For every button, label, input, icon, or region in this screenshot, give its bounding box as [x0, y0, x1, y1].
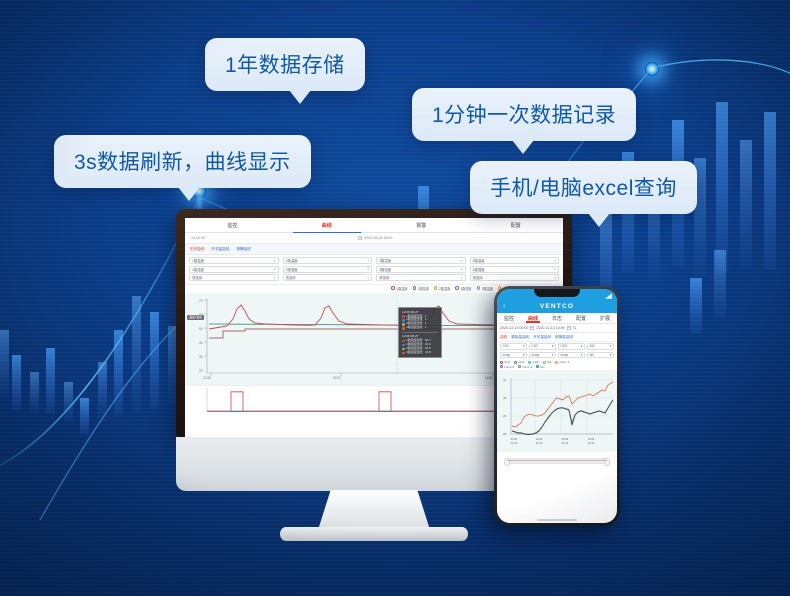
- legend-label: 1路温度: [396, 286, 407, 291]
- monitor-select-x4[interactable]: 请选择▾: [470, 274, 560, 281]
- phone-select-label: comp: [503, 353, 511, 357]
- phone-chip-curve[interactable]: 曲线: [500, 335, 507, 340]
- tooltip-row: 4路温度监测：1: [402, 326, 438, 330]
- phone-app-title: VENTCO: [497, 303, 617, 310]
- svg-text:50: 50: [199, 327, 203, 331]
- tooltip-label: 4路温度监测：1: [406, 326, 427, 330]
- search-icon[interactable]: [573, 326, 577, 330]
- chevron-down-icon: ▾: [367, 276, 369, 280]
- chevron-down-icon: ▾: [461, 259, 463, 263]
- monitor-select-t3[interactable]: 3路温度▾: [376, 257, 466, 264]
- legend-swatch: [528, 361, 531, 364]
- legend-label: fan: [540, 365, 544, 369]
- legend-label: CH3: [533, 360, 539, 364]
- chevron-down-icon: ▾: [552, 344, 554, 348]
- legend-swatch: [500, 365, 503, 368]
- tooltip-swatch: [402, 344, 405, 347]
- slider-handle-right[interactable]: [604, 458, 610, 466]
- legend-label: 3路温度: [482, 286, 493, 291]
- bubble-text: 3s数据刷新，曲线显示: [74, 151, 291, 174]
- legend-item[interactable]: comp 2: [500, 365, 514, 369]
- svg-text:22:57: 22:57: [333, 376, 341, 380]
- bubble-one-minute-record: 1分钟一次数据记录: [412, 88, 636, 141]
- bubble-text: 1分钟一次数据记录: [432, 104, 616, 127]
- legend-item[interactable]: 1路温度: [391, 286, 407, 291]
- monitor-select-h2[interactable]: 2路湿度▾: [283, 266, 373, 273]
- legend-label: 2路湿度: [460, 286, 471, 291]
- monitor-tab-monitor[interactable]: 监控: [185, 218, 280, 232]
- background-bars-left: [0, 296, 177, 434]
- phone-select-row: CH1▾ CH2▾ CH3▾ AI4▾: [497, 342, 617, 351]
- bubble-tail: [512, 140, 534, 154]
- monitor-select-label: 请选择: [286, 275, 296, 280]
- chevron-down-icon: ▾: [461, 267, 463, 271]
- phone-legend-row: CH1 CH2 CH3 AI4 comp 1: [500, 360, 614, 364]
- monitor-select-x3[interactable]: 请选择▾: [376, 274, 466, 281]
- legend-item[interactable]: 3路温度: [477, 286, 493, 291]
- phone-tab-curve[interactable]: 曲线: [521, 315, 545, 322]
- phone-range-slider[interactable]: [505, 458, 609, 464]
- tooltip-swatch: [402, 352, 405, 355]
- legend-swatch: [543, 361, 546, 364]
- phone-app-header: ‹ VENTCO: [497, 300, 617, 313]
- bubble-tail: [178, 187, 200, 201]
- tooltip-swatch: [402, 348, 405, 351]
- calendar-icon[interactable]: [530, 326, 534, 330]
- svg-text:28: 28: [503, 432, 507, 436]
- bubble-tail: [588, 213, 610, 227]
- monitor-date-to: 2020-08-25 18:50: [364, 236, 392, 240]
- monitor-select-label: 4路湿度: [473, 267, 485, 272]
- tooltip-title: 12:40 08-27: [402, 310, 438, 314]
- chevron-down-icon: ▾: [274, 267, 276, 271]
- chevron-down-icon: ▾: [581, 344, 583, 348]
- svg-text:12-13: 12-13: [536, 441, 543, 445]
- monitor-axis-badge: 温度/湿度: [187, 315, 204, 320]
- monitor-select-x1[interactable]: 请选择▾: [189, 274, 279, 281]
- legend-item[interactable]: 1路湿度: [413, 286, 429, 291]
- monitor-select-t4[interactable]: 4路温度▾: [470, 257, 560, 264]
- phone-tab-log[interactable]: 日志: [545, 315, 569, 322]
- monitor-select-label: 1路温度: [192, 258, 204, 263]
- tooltip-swatch: [402, 323, 405, 326]
- phone-chip-analog[interactable]: 模拟量曲线: [511, 335, 529, 340]
- monitor-filter-grid: 1路温度▾ 2路温度▾ 3路温度▾ 4路温度▾ 1路湿度▾ 2路湿度▾ 3路湿度…: [185, 255, 563, 285]
- phone-screen: ‹ VENTCO 监控 曲线 日志 配置 扩展 2020-12-13 00:00…: [497, 289, 617, 523]
- legend-item[interactable]: AI4: [543, 360, 552, 364]
- chevron-down-icon: ▾: [610, 344, 612, 348]
- monitor-date-bar: -24 00:00 2020-08-25 18:50: [185, 233, 563, 244]
- calendar-icon[interactable]: [567, 326, 571, 330]
- phone-notch: [534, 289, 580, 297]
- monitor-tab-label: 曲线: [322, 222, 332, 229]
- phone-tab-label: 日志: [552, 316, 562, 322]
- legend-swatch: [413, 286, 417, 290]
- monitor-tab-alarm[interactable]: 报警: [374, 218, 469, 232]
- tooltip-swatch: [402, 319, 405, 322]
- phone-tab-bar: 监控 曲线 日志 配置 扩展: [497, 313, 617, 324]
- monitor-select-t1[interactable]: 1路温度▾: [189, 257, 279, 264]
- legend-swatch: [391, 286, 395, 290]
- legend-item[interactable]: CH2: [514, 360, 524, 364]
- calendar-icon: [358, 236, 362, 240]
- slider-handle-left[interactable]: [504, 458, 510, 466]
- chevron-down-icon: ▾: [523, 353, 525, 357]
- monitor-chip-bar: 历史曲线 开关量曲线 报警曲线: [185, 244, 563, 255]
- svg-text:12-14: 12-14: [588, 441, 595, 445]
- svg-text:18:58: 18:58: [485, 376, 493, 380]
- phone-select-ai4[interactable]: AI4▾: [587, 343, 614, 350]
- phone-tab-label: 监控: [504, 316, 514, 322]
- phone-line-chart[interactable]: 31 30 29 28 00:0012-13 12:0012-13 00:001…: [497, 370, 617, 452]
- legend-swatch: [477, 286, 481, 290]
- chevron-down-icon: ▾: [554, 267, 556, 271]
- phone-select-label: fan: [590, 353, 594, 357]
- chevron-down-icon: ▾: [274, 276, 276, 280]
- monitor-tab-curve[interactable]: 曲线: [280, 218, 375, 232]
- monitor-select-label: 2路温度: [286, 258, 298, 263]
- monitor-date-from[interactable]: -24 00:00: [190, 236, 205, 240]
- svg-text:12-13: 12-13: [511, 441, 518, 445]
- phone-select-fan[interactable]: fan▾: [587, 352, 614, 359]
- monitor-select-h4[interactable]: 4路湿度▾: [470, 266, 560, 273]
- legend-swatch: [536, 365, 539, 368]
- phone-select-label: CH3: [561, 344, 567, 348]
- phone-chip-alarm[interactable]: 报警量曲线: [555, 335, 573, 340]
- phone-select-label: CH2: [532, 344, 538, 348]
- legend-label: comp 2: [504, 365, 514, 369]
- phone-select-comp1[interactable]: comp▾: [500, 352, 527, 359]
- tooltip-row: 4路温度监测：44.8: [402, 351, 438, 355]
- bubble-one-year-storage: 1年数据存储: [205, 38, 365, 91]
- background-curve-top-right: [652, 60, 790, 78]
- legend-item[interactable]: comp 3: [518, 365, 532, 369]
- legend-label: 1路湿度: [418, 286, 429, 291]
- legend-item[interactable]: CH1: [500, 360, 510, 364]
- tooltip-label: 4路温度监测：44.8: [406, 351, 431, 355]
- svg-text:12:00: 12:00: [588, 437, 595, 441]
- monitor-filter-row: 1路温度▾ 2路温度▾ 3路温度▾ 4路温度▾: [189, 257, 559, 264]
- chevron-down-icon: ▾: [554, 259, 556, 263]
- phone-select-ch1[interactable]: CH1▾: [500, 343, 527, 350]
- bubble-text: 1年数据存储: [225, 54, 345, 77]
- monitor-select-label: 3路温度: [379, 258, 391, 263]
- monitor-tab-label: 报警: [416, 222, 426, 229]
- bubble-tail: [289, 90, 311, 104]
- monitor-tab-config[interactable]: 配置: [469, 218, 564, 232]
- monitor-chart-tooltip: 12:40 08-27 1路温度监测：1 2路温度监测：1 3路温度监测：1 4…: [398, 307, 442, 358]
- phone-tab-monitor[interactable]: 监控: [497, 315, 521, 322]
- monitor-tab-bar: 监控 曲线 报警 配置: [185, 218, 563, 233]
- signal-icon: [605, 293, 612, 299]
- phone-tab-extend[interactable]: 扩展: [593, 315, 617, 322]
- monitor-select-h1[interactable]: 1路湿度▾: [189, 266, 279, 273]
- legend-swatch: [514, 361, 517, 364]
- glow-node-right: [645, 62, 659, 76]
- phone-select-label: CH1: [503, 344, 509, 348]
- bubble-text: 手机/电脑excel查询: [490, 177, 677, 200]
- legend-label: comp 3: [522, 365, 532, 369]
- monitor-tab-label: 监控: [227, 222, 237, 229]
- phone-home-indicator: [537, 519, 577, 521]
- chevron-down-icon: ▾: [552, 353, 554, 357]
- monitor-filter-row: 请选择▾ 请选择▾ 请选择▾ 请选择▾: [189, 274, 559, 281]
- monitor-select-label: 3路湿度: [379, 267, 391, 272]
- legend-item[interactable]: 2路湿度: [455, 286, 471, 291]
- chevron-down-icon: ▾: [367, 259, 369, 263]
- phone-date-from[interactable]: 2020-12-13 00:00: [500, 326, 528, 330]
- monitor-stand-base: [280, 527, 468, 541]
- svg-text:00:00: 00:00: [562, 437, 569, 441]
- bubble-three-second-refresh: 3s数据刷新，曲线显示: [54, 135, 311, 188]
- chevron-down-icon: ▾: [523, 344, 525, 348]
- svg-text:30: 30: [199, 355, 203, 359]
- legend-swatch: [500, 361, 503, 364]
- tooltip-divider: [402, 332, 438, 333]
- tooltip-swatch: [402, 340, 405, 343]
- phone-legend-row: comp 2 comp 3 fan: [500, 365, 614, 369]
- monitor-chip-history[interactable]: 历史曲线: [190, 247, 204, 252]
- monitor-tab-label: 配置: [511, 222, 521, 229]
- svg-text:70: 70: [199, 299, 203, 303]
- phone-date-to[interactable]: 2020-12-14 13:59: [536, 326, 564, 330]
- tooltip-swatch: [402, 327, 405, 330]
- phone-tab-label: 曲线: [528, 316, 538, 322]
- svg-text:12-14: 12-14: [562, 441, 569, 445]
- phone-chip-digital[interactable]: 开关量曲线: [533, 335, 551, 340]
- phone-select-comp2[interactable]: comp▾: [529, 352, 556, 359]
- phone-select-label: AI4: [590, 344, 595, 348]
- svg-text:12:56: 12:56: [203, 376, 211, 380]
- chevron-down-icon: ▾: [367, 267, 369, 271]
- phone-select-ch3[interactable]: CH3▾: [558, 343, 585, 350]
- legend-swatch: [455, 286, 459, 290]
- monitor-select-h3[interactable]: 3路湿度▾: [376, 266, 466, 273]
- monitor-select-label: 请选择: [192, 275, 202, 280]
- svg-text:12:00: 12:00: [536, 437, 543, 441]
- legend-swatch: [518, 365, 521, 368]
- monitor-date-to-group[interactable]: 2020-08-25 18:50: [358, 236, 392, 240]
- phone-chip-bar: 曲线 模拟量曲线 开关量曲线 报警量曲线: [497, 333, 617, 342]
- legend-label: comp 1: [560, 360, 570, 364]
- monitor-select-label: 1路湿度: [192, 267, 204, 272]
- phone-tab-label: 配置: [576, 316, 586, 322]
- chevron-down-icon: ▾: [461, 276, 463, 280]
- monitor-select-x2[interactable]: 请选择▾: [283, 274, 373, 281]
- monitor-select-label: 请选择: [379, 275, 389, 280]
- monitor-chip-alarm[interactable]: 报警曲线: [236, 247, 250, 252]
- svg-text:29: 29: [503, 414, 507, 418]
- phone-select-row: comp▾ comp▾ comp▾ fan▾: [497, 351, 617, 360]
- legend-label: CH2: [518, 360, 524, 364]
- svg-text:00:00: 00:00: [511, 437, 518, 441]
- phone-select-label: comp: [561, 353, 569, 357]
- phone-date-range: 2020-12-13 00:00 2020-12-14 13:59: [497, 324, 617, 333]
- promo-banner: 监控 曲线 报警 配置 -24 00:00 2020-08-25 18:50 历…: [0, 0, 790, 596]
- svg-text:30: 30: [503, 396, 507, 400]
- chevron-down-icon: ▾: [274, 259, 276, 263]
- legend-label: AI4: [547, 360, 552, 364]
- svg-text:40: 40: [199, 341, 203, 345]
- phone-select-ch2[interactable]: CH2▾: [529, 343, 556, 350]
- phone-tab-label: 扩展: [600, 316, 610, 322]
- legend-swatch: [555, 361, 558, 364]
- monitor-select-label: 2路湿度: [286, 267, 298, 272]
- monitor-select-label: 4路温度: [473, 258, 485, 263]
- chevron-down-icon: ▾: [610, 353, 612, 357]
- tooltip-swatch: [402, 315, 405, 318]
- legend-item[interactable]: comp 1: [555, 360, 569, 364]
- bubble-excel-query: 手机/电脑excel查询: [470, 161, 697, 214]
- legend-item[interactable]: 2路温度: [434, 286, 450, 291]
- monitor-select-label: 请选择: [473, 275, 483, 280]
- legend-item[interactable]: CH3: [528, 360, 538, 364]
- legend-label: 2路温度: [439, 286, 450, 291]
- legend-label: CH1: [504, 360, 510, 364]
- phone-tab-config[interactable]: 配置: [569, 315, 593, 322]
- svg-text:20: 20: [199, 369, 203, 373]
- mobile-phone: ‹ VENTCO 监控 曲线 日志 配置 扩展 2020-12-13 00:00…: [494, 286, 620, 526]
- chevron-down-icon: ▾: [554, 276, 556, 280]
- monitor-select-t2[interactable]: 2路温度▾: [283, 257, 373, 264]
- legend-item[interactable]: fan: [536, 365, 544, 369]
- phone-select-comp3[interactable]: comp▾: [558, 352, 585, 359]
- monitor-chip-digital[interactable]: 开关量曲线: [211, 247, 229, 252]
- monitor-filter-row: 1路湿度▾ 2路湿度▾ 3路湿度▾ 4路湿度▾: [189, 266, 559, 273]
- legend-swatch: [434, 286, 438, 290]
- svg-text:31: 31: [503, 378, 507, 382]
- chevron-down-icon: ▾: [581, 353, 583, 357]
- phone-select-label: comp: [532, 353, 540, 357]
- phone-chart-legend: CH1 CH2 CH3 AI4 comp 1 comp 2 comp 3 fan: [497, 359, 617, 370]
